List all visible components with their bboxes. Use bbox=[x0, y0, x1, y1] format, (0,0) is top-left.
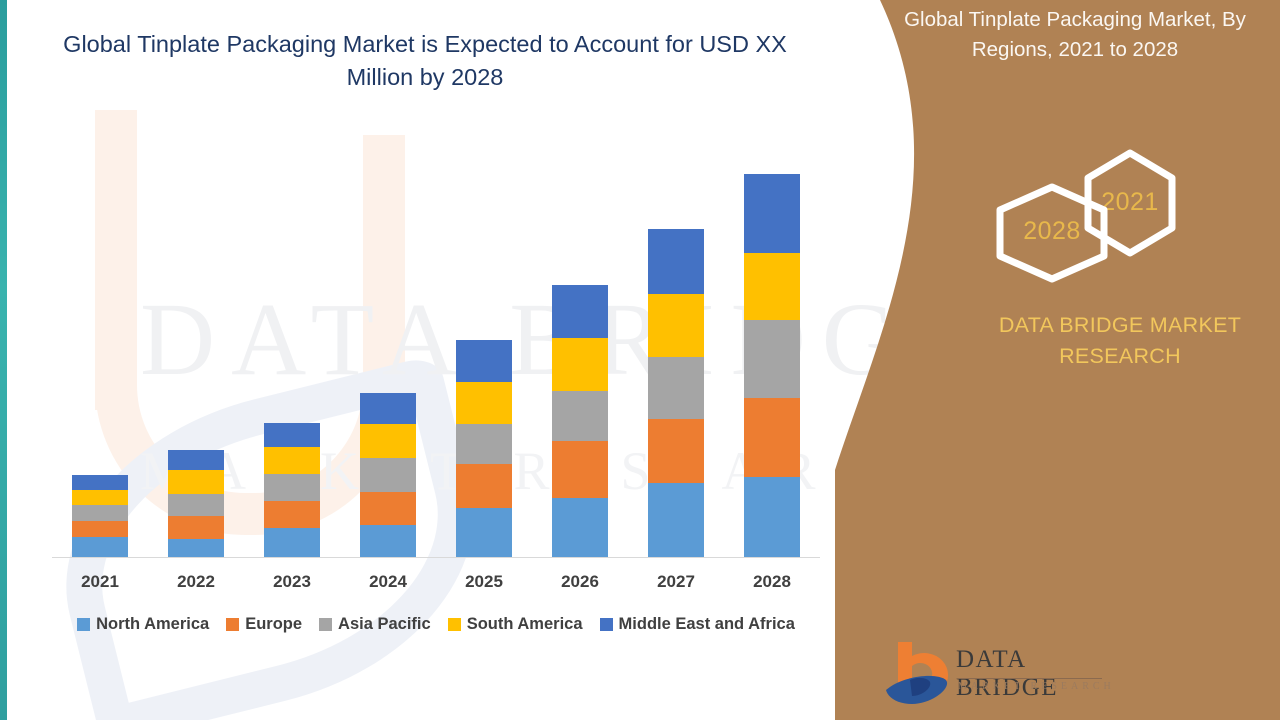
bar-segment[interactable] bbox=[456, 340, 512, 382]
legend-label: North America bbox=[96, 615, 209, 634]
chart-plot-area bbox=[52, 150, 820, 558]
bar-segment[interactable] bbox=[72, 490, 128, 505]
bar-segment[interactable] bbox=[72, 537, 128, 557]
legend-label: South America bbox=[467, 615, 583, 634]
bar-segment[interactable] bbox=[648, 357, 704, 419]
bar-segment[interactable] bbox=[360, 525, 416, 557]
bar-segment[interactable] bbox=[264, 501, 320, 529]
bar-2023[interactable] bbox=[264, 423, 320, 557]
bar-2028[interactable] bbox=[744, 174, 800, 557]
bar-segment[interactable] bbox=[72, 505, 128, 521]
bar-segment[interactable] bbox=[72, 521, 128, 536]
bar-segment[interactable] bbox=[360, 424, 416, 458]
x-label-2027: 2027 bbox=[628, 572, 724, 592]
bar-segment[interactable] bbox=[264, 447, 320, 475]
slide-canvas: DATA BRIDGE MARKET RESEARCH Global Tinpl… bbox=[0, 0, 1280, 720]
bar-segment[interactable] bbox=[72, 475, 128, 489]
x-axis-labels: 20212022202320242025202620272028 bbox=[52, 572, 820, 600]
bar-segment[interactable] bbox=[552, 391, 608, 441]
legend-label: Asia Pacific bbox=[338, 615, 431, 634]
hexagon-2028: 2028 bbox=[992, 183, 1112, 283]
legend-item[interactable]: Asia Pacific bbox=[319, 615, 431, 634]
x-label-2028: 2028 bbox=[724, 572, 820, 592]
bar-2021[interactable] bbox=[72, 475, 128, 557]
bar-segment[interactable] bbox=[168, 470, 224, 493]
x-label-2026: 2026 bbox=[532, 572, 628, 592]
bar-segment[interactable] bbox=[456, 424, 512, 464]
bar-segment[interactable] bbox=[360, 492, 416, 526]
bar-segment[interactable] bbox=[744, 477, 800, 557]
bar-segment[interactable] bbox=[744, 398, 800, 478]
bar-segment[interactable] bbox=[744, 174, 800, 254]
legend-swatch-icon bbox=[600, 618, 613, 631]
bar-segment[interactable] bbox=[168, 516, 224, 538]
bar-segment[interactable] bbox=[744, 253, 800, 320]
bar-segment[interactable] bbox=[648, 483, 704, 557]
chart-legend: North AmericaEuropeAsia PacificSouth Ame… bbox=[52, 615, 820, 634]
bar-2022[interactable] bbox=[168, 450, 224, 557]
bar-2026[interactable] bbox=[552, 285, 608, 557]
brand-name: DATA BRIDGE MARKET RESEARCH bbox=[975, 310, 1265, 372]
x-label-2025: 2025 bbox=[436, 572, 532, 592]
bar-segment[interactable] bbox=[552, 441, 608, 498]
legend-label: Middle East and Africa bbox=[619, 615, 795, 634]
x-label-2021: 2021 bbox=[52, 572, 148, 592]
bar-segment[interactable] bbox=[456, 508, 512, 557]
legend-swatch-icon bbox=[226, 618, 239, 631]
bar-segment[interactable] bbox=[552, 338, 608, 391]
bar-2025[interactable] bbox=[456, 340, 512, 557]
legend-swatch-icon bbox=[448, 618, 461, 631]
bar-segment[interactable] bbox=[168, 494, 224, 516]
legend-item[interactable]: North America bbox=[77, 615, 209, 634]
x-label-2023: 2023 bbox=[244, 572, 340, 592]
bar-2024[interactable] bbox=[360, 393, 416, 557]
logo-wordmark: DATA BRIDGE bbox=[956, 646, 1115, 702]
bar-2027[interactable] bbox=[648, 229, 704, 557]
hexagon-2028-label: 2028 bbox=[992, 217, 1112, 246]
bar-segment[interactable] bbox=[552, 285, 608, 338]
bar-segment[interactable] bbox=[168, 450, 224, 470]
bar-segment[interactable] bbox=[360, 458, 416, 492]
bar-segment[interactable] bbox=[648, 419, 704, 482]
bar-segment[interactable] bbox=[264, 474, 320, 501]
legend-item[interactable]: Middle East and Africa bbox=[600, 615, 795, 634]
x-axis-line bbox=[52, 557, 820, 558]
legend-label: Europe bbox=[245, 615, 302, 634]
bar-segment[interactable] bbox=[456, 464, 512, 508]
bar-segment[interactable] bbox=[456, 382, 512, 425]
bar-segment[interactable] bbox=[264, 528, 320, 557]
page-title: Global Tinplate Packaging Market is Expe… bbox=[60, 28, 790, 94]
left-edge-accent-stripe bbox=[0, 0, 7, 720]
legend-swatch-icon bbox=[319, 618, 332, 631]
bar-segment[interactable] bbox=[168, 539, 224, 557]
x-label-2024: 2024 bbox=[340, 572, 436, 592]
bar-segment[interactable] bbox=[360, 393, 416, 425]
x-label-2022: 2022 bbox=[148, 572, 244, 592]
logo-divider bbox=[957, 678, 1102, 679]
bar-segment[interactable] bbox=[552, 498, 608, 557]
bar-segment[interactable] bbox=[264, 423, 320, 446]
bar-segment[interactable] bbox=[648, 229, 704, 294]
legend-item[interactable]: South America bbox=[448, 615, 583, 634]
panel-title: Global Tinplate Packaging Market, By Reg… bbox=[875, 5, 1275, 65]
data-bridge-logo: DATA BRIDGE MARKET RESEARCH bbox=[880, 636, 1115, 712]
logo-tagline: MARKET RESEARCH bbox=[958, 681, 1115, 692]
bar-segment[interactable] bbox=[648, 294, 704, 357]
legend-item[interactable]: Europe bbox=[226, 615, 302, 634]
legend-swatch-icon bbox=[77, 618, 90, 631]
bar-segment[interactable] bbox=[744, 320, 800, 398]
stacked-bar-chart bbox=[52, 150, 820, 560]
